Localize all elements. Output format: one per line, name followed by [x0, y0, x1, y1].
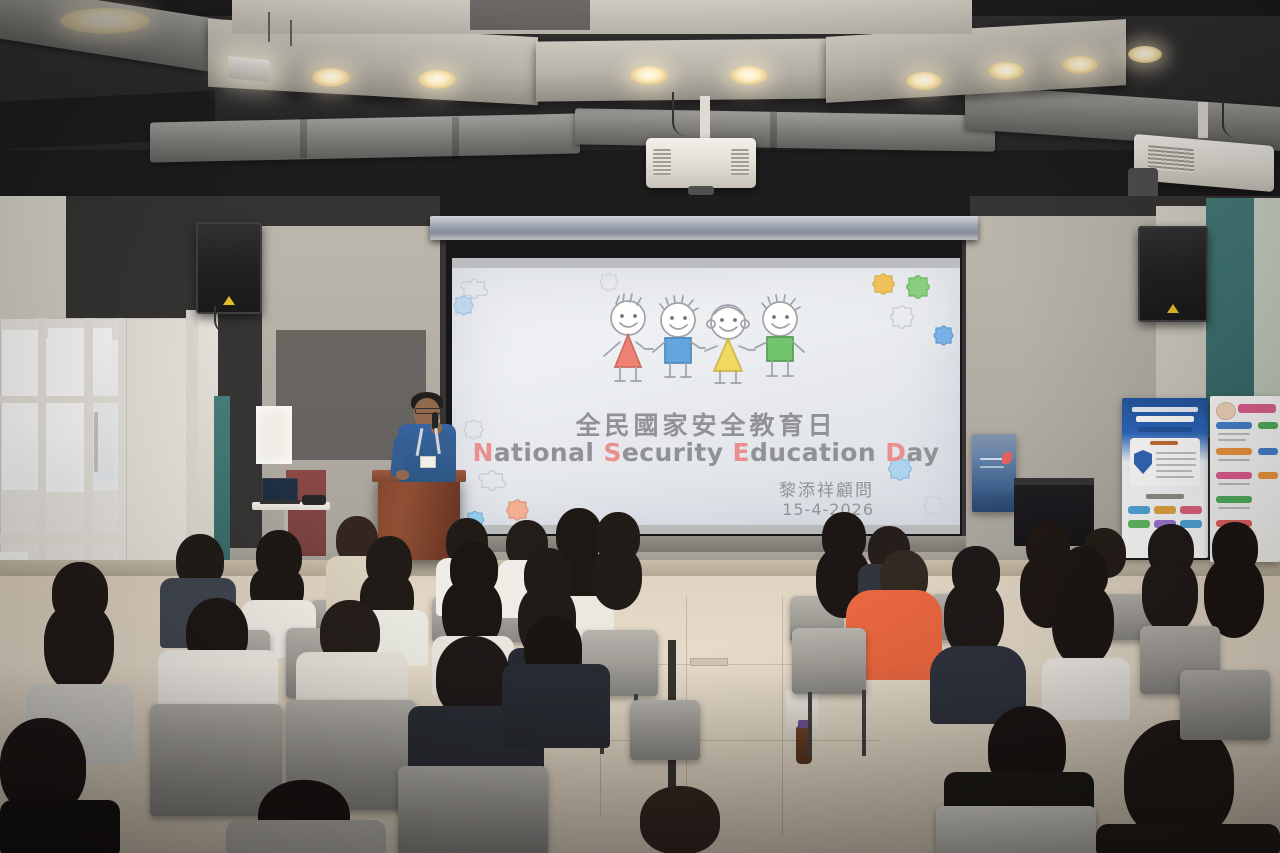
- quiz-row-2-text: [1218, 459, 1250, 461]
- quiz-row-2-label: [1216, 448, 1252, 455]
- ceiling-hanger-rod-1: [268, 12, 270, 42]
- laptop-base: [260, 500, 300, 504]
- projector-cable-right: [1222, 100, 1250, 138]
- banner-heading-line-2: [1136, 416, 1194, 422]
- ceiling-soffit-face: [232, 0, 972, 34]
- chair-fg-4: [398, 766, 548, 853]
- chair-fg-9: [936, 806, 1096, 853]
- quiz-poster-avatar-icon: [1216, 402, 1236, 420]
- puzzle-piece-icon-tl2: [452, 292, 478, 316]
- ceiling-panel-gap: [470, 0, 590, 30]
- presentation-slide: 全民國家安全教育日 National Security Education Da…: [452, 268, 960, 525]
- chair-m4-leg: [808, 692, 812, 756]
- floor-socket-cover: [690, 658, 728, 666]
- quiz-row-1-text2: [1218, 439, 1246, 441]
- projector-lens-left: [688, 186, 714, 195]
- audience-torso-fg-5: [502, 664, 610, 748]
- piano-lid: [1014, 478, 1094, 485]
- slide-date: 15-4-2026: [782, 500, 874, 519]
- chair-m4-leg2: [862, 690, 866, 756]
- stick-figure-children-illustration: [598, 292, 814, 404]
- projector-left: [646, 138, 756, 188]
- downlight-5: [906, 72, 942, 90]
- projection-screen: 全民國家安全教育日 National Security Education Da…: [452, 258, 960, 534]
- id-badge: [420, 456, 436, 468]
- downlight-1: [312, 68, 350, 87]
- screen-housing: [430, 216, 978, 240]
- spotlight-fixture: [228, 56, 270, 82]
- puzzle-piece-icon-tr2: [904, 272, 934, 300]
- puzzle-piece-icon-top-centre: [598, 270, 622, 292]
- audience-hair-mid-8: [1052, 584, 1114, 668]
- downlight-9: [60, 8, 150, 34]
- poster-skyline: [972, 486, 1016, 512]
- chair-fg-11: [630, 700, 700, 760]
- banner-domain-chip-1: [1128, 506, 1150, 514]
- downlight-3: [630, 66, 668, 85]
- quiz-right-chip-3: [1258, 472, 1278, 479]
- audience-torso-fg-7: [226, 820, 386, 853]
- banner-text-line-3: [1156, 464, 1196, 466]
- assembly-hall-photo: 全民國家安全教育日 National Security Education Da…: [0, 0, 1280, 853]
- downlight-6: [988, 62, 1024, 80]
- quiz-row-4-label: [1216, 496, 1252, 503]
- puzzle-piece-icon-tr3: [888, 302, 918, 330]
- audience-torso-mid-8: [1042, 658, 1130, 720]
- audience-torso-fg-10: [1096, 824, 1280, 853]
- partition-handle[interactable]: [94, 412, 98, 472]
- pa-speaker-left: [196, 222, 262, 314]
- chair-m4: [792, 628, 866, 694]
- wall-notice-board: [256, 406, 292, 464]
- audience-hair-far-10: [1142, 560, 1198, 634]
- banner-domain-chip-3: [1180, 506, 1202, 514]
- banner-footer-title: [1146, 494, 1184, 499]
- speaker-hand-left: [396, 470, 409, 480]
- banner-subheading: [1138, 427, 1192, 432]
- duct-seam-3: [770, 112, 777, 150]
- quiz-row-1-label: [1216, 422, 1252, 429]
- quiz-row-4-text: [1218, 507, 1250, 509]
- poster-badge-5: [1002, 452, 1012, 464]
- pa-speaker-right: [1138, 226, 1208, 322]
- puzzle-piece-icon-bl3: [504, 496, 532, 522]
- downlight-4: [730, 66, 768, 85]
- puzzle-piece-icon-br2: [922, 492, 948, 516]
- banner-core-concept-title: [1150, 441, 1178, 445]
- banner-text-line-2: [1156, 458, 1196, 460]
- quiz-row-3-text: [1218, 483, 1250, 485]
- downlight-7: [1062, 56, 1098, 74]
- banner-text-line-1: [1156, 452, 1196, 454]
- poster-sub-line: [980, 466, 1004, 468]
- quiz-right-chip-2: [1258, 448, 1278, 455]
- hong-kong-anniversary-poster: [972, 434, 1016, 512]
- downlight-8: [1128, 46, 1162, 63]
- slide-title-chinese: 全民國家安全教育日: [452, 406, 960, 442]
- banner-text-line-4: [1156, 470, 1192, 472]
- slide-title-english: National Security Education Day: [452, 438, 960, 467]
- slide-presenter-name: 黎添祥顧問: [779, 476, 874, 501]
- window-pane-2: [40, 338, 84, 492]
- puzzle-piece-icon-bl2: [476, 466, 510, 496]
- projector-mount-right: [1198, 102, 1208, 138]
- quiz-row-3-label: [1216, 472, 1252, 479]
- banner-text-line-5: [1156, 476, 1194, 478]
- puzzle-piece-icon-tr4: [932, 322, 958, 346]
- banner-domain-chip-4: [1128, 520, 1150, 528]
- quiz-right-chip-1: [1258, 422, 1278, 429]
- puzzle-piece-icon-tr1: [870, 270, 898, 296]
- banner-heading-line-1: [1132, 407, 1198, 412]
- duct-seam-2: [452, 117, 459, 159]
- duct-seam-1: [300, 118, 307, 158]
- floor-tile-line-3: [782, 596, 783, 836]
- laptop-accessory: [302, 495, 326, 505]
- audience-torso-fg-6: [0, 800, 120, 853]
- screen-top-strip: [452, 258, 960, 268]
- window-pane-1: [2, 330, 40, 490]
- ceiling-duct-right: [575, 108, 995, 151]
- audience-hair-fg-1: [44, 604, 114, 694]
- downlight-2: [418, 70, 456, 89]
- chair-fg-12: [1180, 670, 1270, 740]
- audience-hair-far-5: [592, 548, 642, 610]
- banner-domain-chip-2: [1154, 506, 1176, 514]
- projector-cable-left: [672, 92, 704, 136]
- quiz-row-1-text: [1218, 433, 1250, 435]
- ceiling-hanger-rod-2: [290, 20, 292, 46]
- audience-head-fg-8: [640, 786, 720, 853]
- quiz-poster-heading: [1238, 404, 1276, 413]
